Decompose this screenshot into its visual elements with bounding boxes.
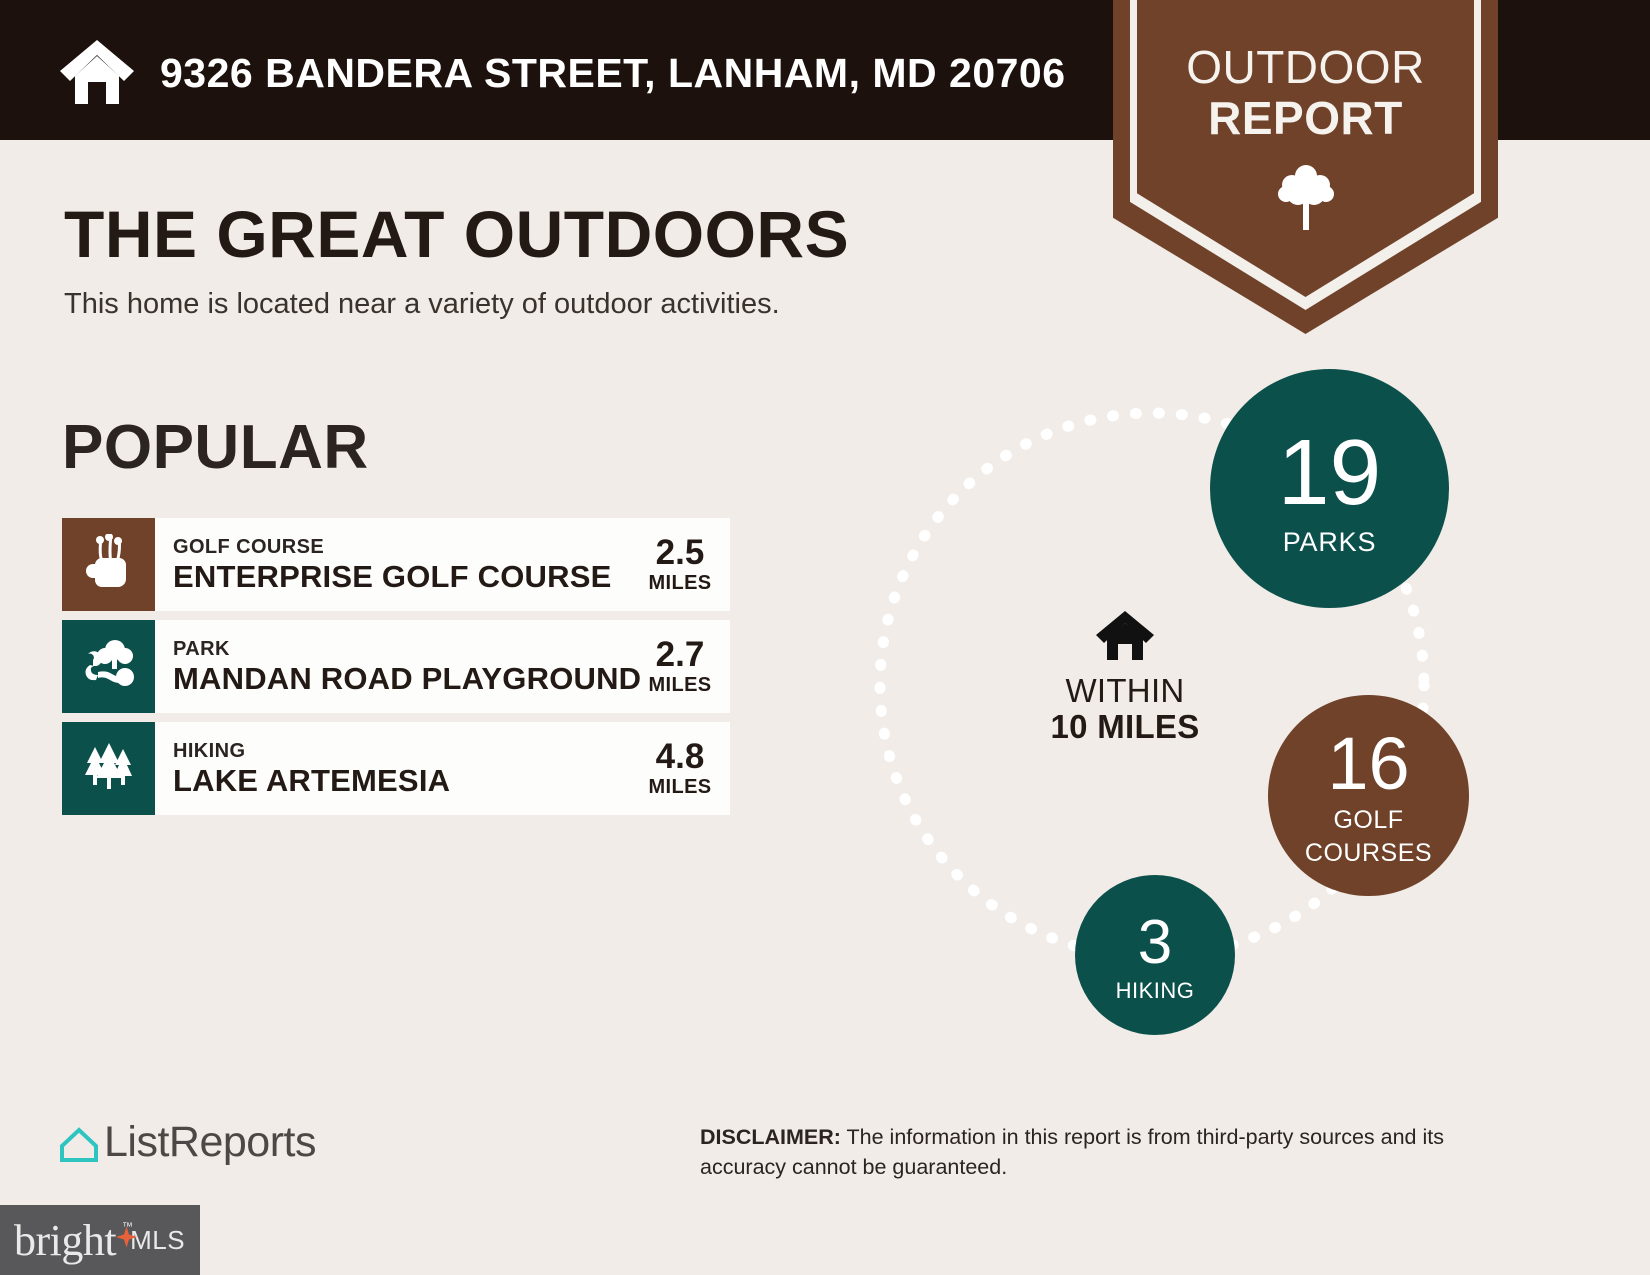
list-item-name: LAKE ARTEMESIA: [173, 763, 644, 798]
stat-label: HIKING: [1116, 979, 1195, 1002]
stat-value: 16: [1327, 727, 1409, 801]
distance-unit: MILES: [644, 673, 716, 697]
house-icon: [1094, 608, 1156, 662]
listreports-wordmark: ListReports: [104, 1118, 316, 1167]
list-item-category: HIKING: [173, 739, 644, 763]
stat-value: 3: [1138, 912, 1172, 974]
list-item[interactable]: GOLF COURSE ENTERPRISE GOLF COURSE 2.5 M…: [62, 518, 730, 611]
list-item-body: HIKING LAKE ARTEMESIA 4.8 MILES: [155, 722, 730, 815]
popular-list: GOLF COURSE ENTERPRISE GOLF COURSE 2.5 M…: [62, 518, 730, 824]
stat-label-line-2: COURSES: [1305, 840, 1432, 866]
distance-unit: MILES: [644, 571, 716, 595]
page-title: 9326 BANDERA STREET, LANHAM, MD 20706: [160, 50, 1066, 97]
list-item-category: PARK: [173, 637, 644, 661]
distance-unit: MILES: [644, 775, 716, 799]
list-item-distance: 2.7 MILES: [644, 637, 730, 697]
stat-circle-parks[interactable]: 19 PARKS: [1210, 369, 1449, 608]
tree-icon: [1278, 163, 1334, 231]
list-item-category: GOLF COURSE: [173, 535, 644, 559]
distance-value: 4.8: [644, 739, 716, 775]
park-tree-icon: [82, 639, 136, 694]
list-item-name: ENTERPRISE GOLF COURSE: [173, 559, 644, 594]
bright-text: bright: [14, 1216, 116, 1265]
proximity-diagram: WITHIN 10 MILES 19 PARKS 16 GOLF COURSES…: [860, 355, 1480, 1055]
list-item-icon-tile: [62, 518, 155, 611]
stat-value: 19: [1278, 426, 1381, 519]
distance-value: 2.7: [644, 637, 716, 673]
pine-trees-icon: [81, 741, 137, 796]
mls-text: MLS: [130, 1225, 185, 1256]
bright-mls-watermark: bright ™ MLS: [0, 1205, 200, 1275]
center-label-line-2: 10 MILES: [1040, 709, 1210, 745]
trademark-symbol: ™: [122, 1221, 133, 1233]
disclaimer-label: DISCLAIMER:: [700, 1125, 841, 1149]
list-item[interactable]: HIKING LAKE ARTEMESIA 4.8 MILES: [62, 722, 730, 815]
report-badge-title: OUTDOOR REPORT: [1137, 42, 1474, 144]
diagram-center: WITHIN 10 MILES: [1040, 608, 1210, 745]
badge-line-2: REPORT: [1137, 93, 1474, 144]
center-label-line-1: WITHIN: [1040, 673, 1210, 709]
badge-line-1: OUTDOOR: [1137, 42, 1474, 93]
stat-label-line-1: GOLF: [1333, 807, 1403, 833]
list-item-distance: 2.5 MILES: [644, 535, 730, 595]
list-item-text: GOLF COURSE ENTERPRISE GOLF COURSE: [173, 535, 644, 594]
disclaimer: DISCLAIMER: The information in this repo…: [700, 1122, 1510, 1182]
listreports-logo[interactable]: ListReports: [58, 1118, 316, 1167]
list-item-distance: 4.8 MILES: [644, 739, 730, 799]
section-title: THE GREAT OUTDOORS: [64, 196, 849, 272]
distance-value: 2.5: [644, 535, 716, 571]
stat-label: PARKS: [1283, 528, 1377, 556]
list-item-text: HIKING LAKE ARTEMESIA: [173, 739, 644, 798]
list-item[interactable]: PARK MANDAN ROAD PLAYGROUND 2.7 MILES: [62, 620, 730, 713]
list-item-icon-tile: [62, 620, 155, 713]
list-item-text: PARK MANDAN ROAD PLAYGROUND: [173, 637, 644, 696]
outdoor-report-page: 9326 BANDERA STREET, LANHAM, MD 20706 OU…: [0, 0, 1650, 1275]
golf-bag-icon: [86, 534, 132, 595]
list-item-name: MANDAN ROAD PLAYGROUND: [173, 661, 644, 696]
section-subtitle: This home is located near a variety of o…: [64, 288, 780, 321]
stat-circle-golf-courses[interactable]: 16 GOLF COURSES: [1268, 695, 1469, 896]
list-item-body: PARK MANDAN ROAD PLAYGROUND 2.7 MILES: [155, 620, 730, 713]
list-item-icon-tile: [62, 722, 155, 815]
stat-circle-hiking[interactable]: 3 HIKING: [1075, 875, 1235, 1035]
house-icon: [58, 36, 136, 106]
list-item-body: GOLF COURSE ENTERPRISE GOLF COURSE 2.5 M…: [155, 518, 730, 611]
house-outline-icon: [58, 1122, 100, 1164]
bright-wordmark: bright ™: [14, 1215, 116, 1266]
popular-heading: POPULAR: [62, 412, 369, 483]
